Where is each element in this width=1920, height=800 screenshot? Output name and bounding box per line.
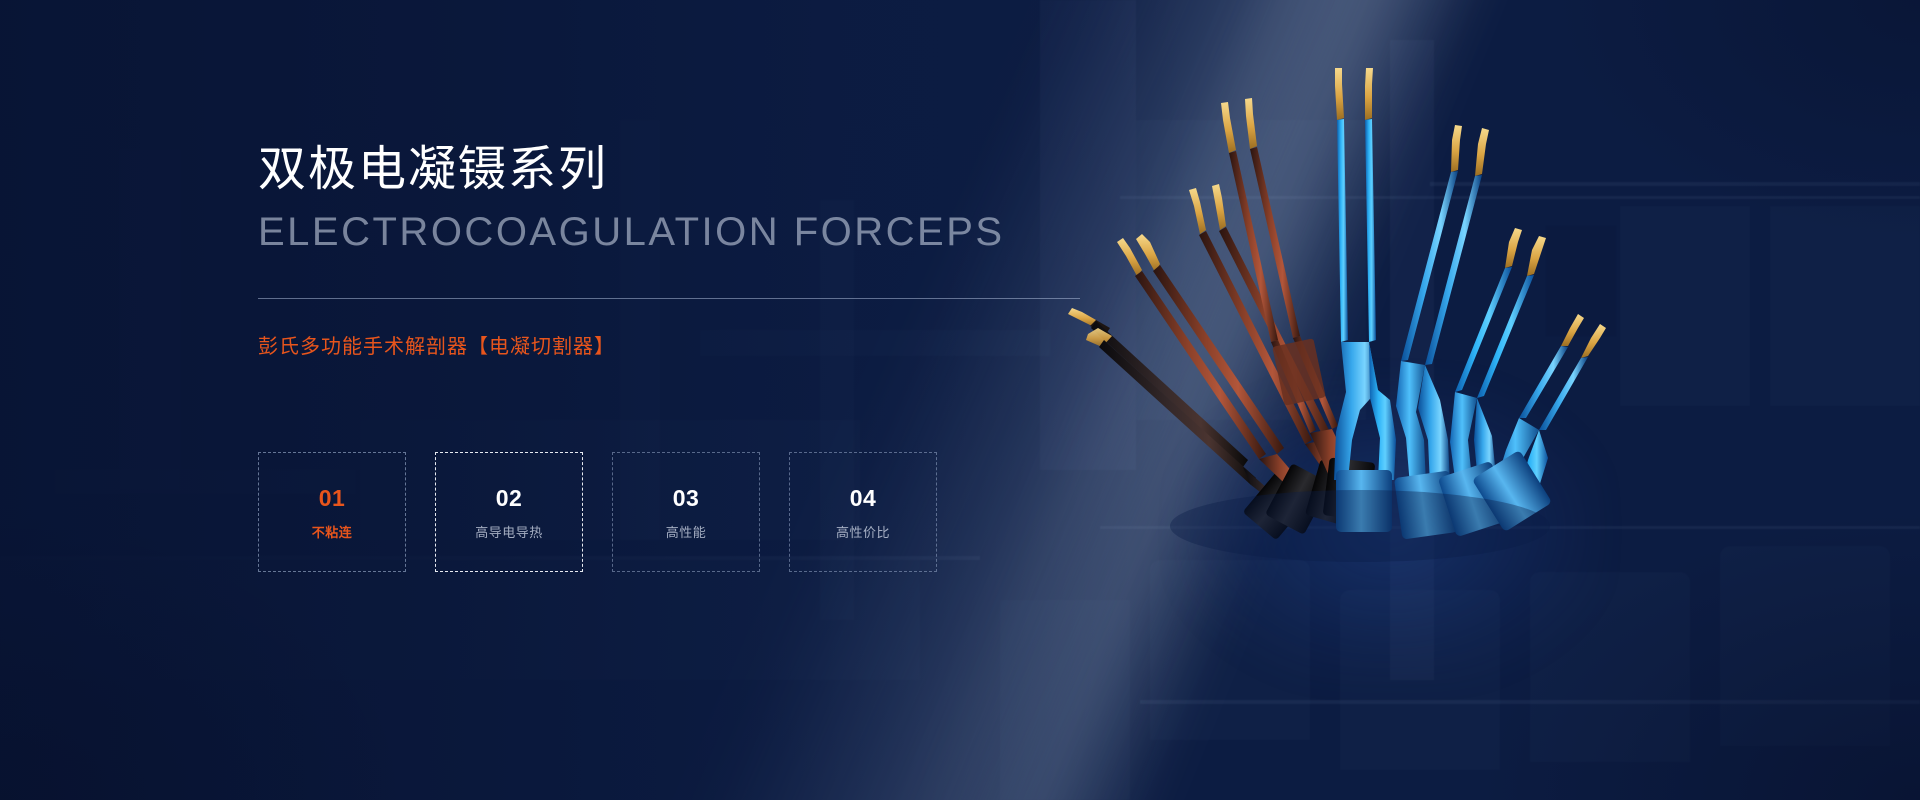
copy-column: 双极电凝镊系列 ELECTROCOAGULATION FORCEPS 彭氏多功能… [258, 0, 1158, 800]
product-banner: 双极电凝镊系列 ELECTROCOAGULATION FORCEPS 彭氏多功能… [0, 0, 1920, 800]
feature-card-03[interactable]: 03 高性能 [612, 452, 760, 572]
feature-number: 04 [850, 487, 877, 510]
feature-number: 01 [319, 487, 346, 510]
feature-label: 高性价比 [836, 526, 890, 539]
feature-list: 01 不粘连 02 高导电导热 03 高性能 04 高性价比 [258, 452, 937, 572]
feature-card-04[interactable]: 04 高性价比 [789, 452, 937, 572]
product-tagline: 彭氏多功能手术解剖器【电凝切割器】 [258, 337, 615, 357]
page-title: 双极电凝镊系列 [258, 146, 608, 194]
feature-card-01[interactable]: 01 不粘连 [258, 452, 406, 572]
forceps-8-blue [1472, 314, 1606, 532]
feature-number: 02 [496, 487, 523, 510]
page-subtitle-english: ELECTROCOAGULATION FORCEPS [258, 212, 1005, 252]
feature-card-02[interactable]: 02 高导电导热 [435, 452, 583, 572]
feature-label: 高导电导热 [475, 526, 543, 539]
feature-label: 不粘连 [312, 526, 353, 539]
divider [258, 298, 1080, 299]
feature-number: 03 [673, 487, 700, 510]
feature-label: 高性能 [666, 526, 707, 539]
